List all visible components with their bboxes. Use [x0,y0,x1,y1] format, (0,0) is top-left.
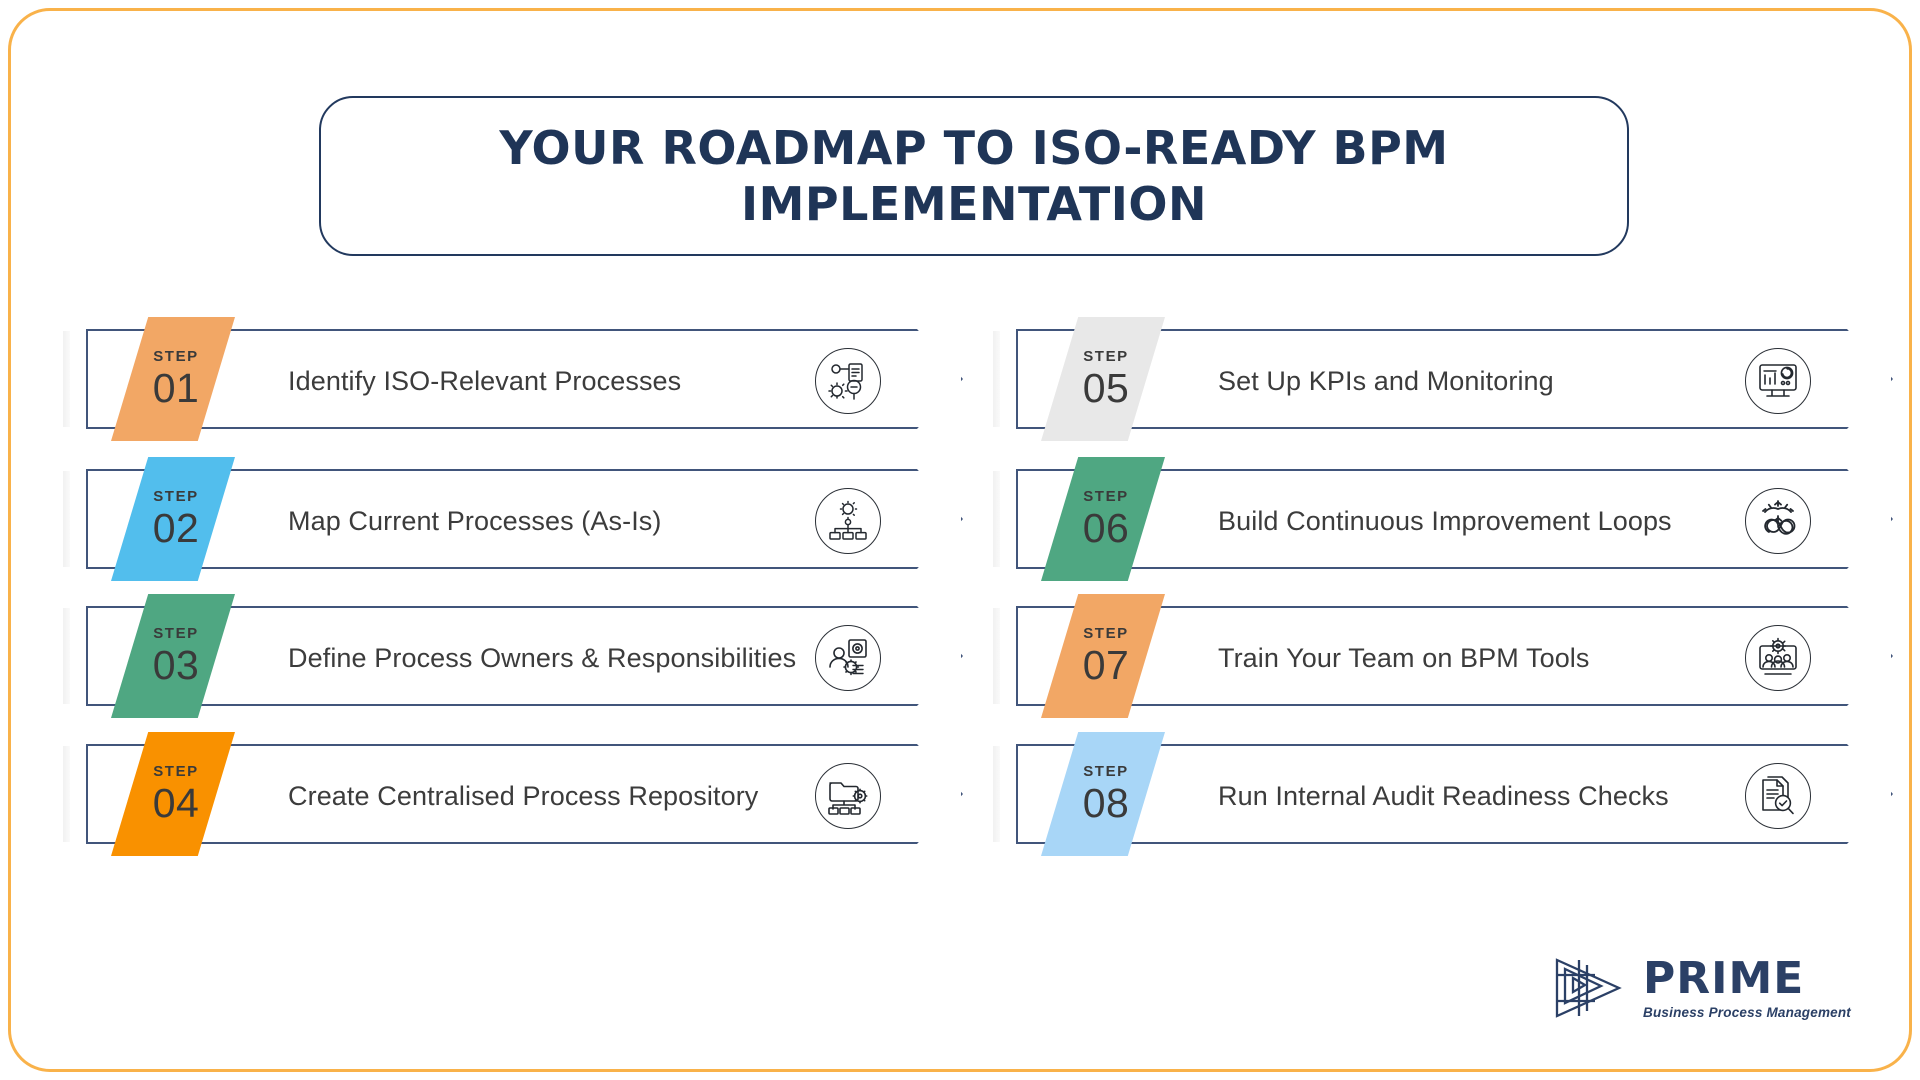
step-label: Map Current Processes (As-Is) [288,471,662,571]
infinity-loop-gear-icon [1745,488,1811,554]
prime-logo-mark [1549,955,1629,1021]
step-badge-number: 03 [153,645,200,686]
step-row[interactable]: Define Process Owners & Responsibilities… [63,606,963,706]
step-badge-number: 07 [1083,645,1130,686]
step-row-stub [63,471,70,567]
step-row-stub [993,746,1000,842]
step-badge-word: STEP [153,349,199,364]
step-badge-number: 05 [1083,368,1130,409]
step-badge-word: STEP [1083,764,1129,779]
step-row-stub [63,608,70,704]
step-label: Define Process Owners & Responsibilities [288,608,796,708]
people-settings-icon [815,625,881,691]
folder-repository-gear-icon [815,763,881,829]
step-label: Run Internal Audit Readiness Checks [1218,746,1669,846]
steps-column-right: Set Up KPIs and Monitoring STEP05Build C… [993,329,1893,889]
page-frame: YOUR ROADMAP TO ISO-READY BPM IMPLEMENTA… [8,8,1912,1072]
step-badge-number: 01 [153,368,200,409]
step-badge-word: STEP [1083,626,1129,641]
step-row-stub [993,331,1000,427]
step-row-stub [993,471,1000,567]
step-badge-word: STEP [153,626,199,641]
step-row[interactable]: Create Centralised Process Repository ST… [63,744,963,844]
step-row-stub [63,331,70,427]
page-title: YOUR ROADMAP TO ISO-READY BPM IMPLEMENTA… [371,120,1577,232]
training-team-screen-icon [1745,625,1811,691]
step-row[interactable]: Map Current Processes (As-Is) STEP02 [63,469,963,569]
steps-column-left: Identify ISO-Relevant Processes STEP01Ma… [63,329,963,889]
prime-logo-name: PRIME [1643,957,1804,1001]
prime-logo-tagline: Business Process Management [1643,1005,1851,1020]
step-badge-word: STEP [153,489,199,504]
step-row[interactable]: Identify ISO-Relevant Processes STEP01 [63,329,963,429]
step-label: Identify ISO-Relevant Processes [288,331,681,431]
prime-logo: PRIME Business Process Management [1549,955,1851,1021]
documents-check-magnifier-icon [1745,763,1811,829]
step-row[interactable]: Set Up KPIs and Monitoring STEP05 [993,329,1893,429]
step-row-stub [993,608,1000,704]
roadmap-steps: Identify ISO-Relevant Processes STEP01Ma… [63,329,1883,889]
monitor-dashboard-icon [1745,348,1811,414]
step-label: Set Up KPIs and Monitoring [1218,331,1554,431]
step-label: Train Your Team on BPM Tools [1218,608,1590,708]
step-badge-word: STEP [153,764,199,779]
step-row[interactable]: Train Your Team on BPM Tools STEP07 [993,606,1893,706]
step-row-stub [63,746,70,842]
step-label: Create Centralised Process Repository [288,746,758,846]
flowchart-gear-icon [815,488,881,554]
step-badge-word: STEP [1083,349,1129,364]
step-badge-number: 02 [153,508,200,549]
step-row[interactable]: Run Internal Audit Readiness Checks STEP… [993,744,1893,844]
page-title-box: YOUR ROADMAP TO ISO-READY BPM IMPLEMENTA… [319,96,1629,256]
step-badge-word: STEP [1083,489,1129,504]
step-row[interactable]: Build Continuous Improvement Loops STEP0… [993,469,1893,569]
step-badge-number: 06 [1083,508,1130,549]
prime-logo-text: PRIME Business Process Management [1643,957,1851,1020]
step-badge-number: 04 [153,783,200,824]
document-search-gear-icon [815,348,881,414]
step-label: Build Continuous Improvement Loops [1218,471,1672,571]
step-badge-number: 08 [1083,783,1130,824]
